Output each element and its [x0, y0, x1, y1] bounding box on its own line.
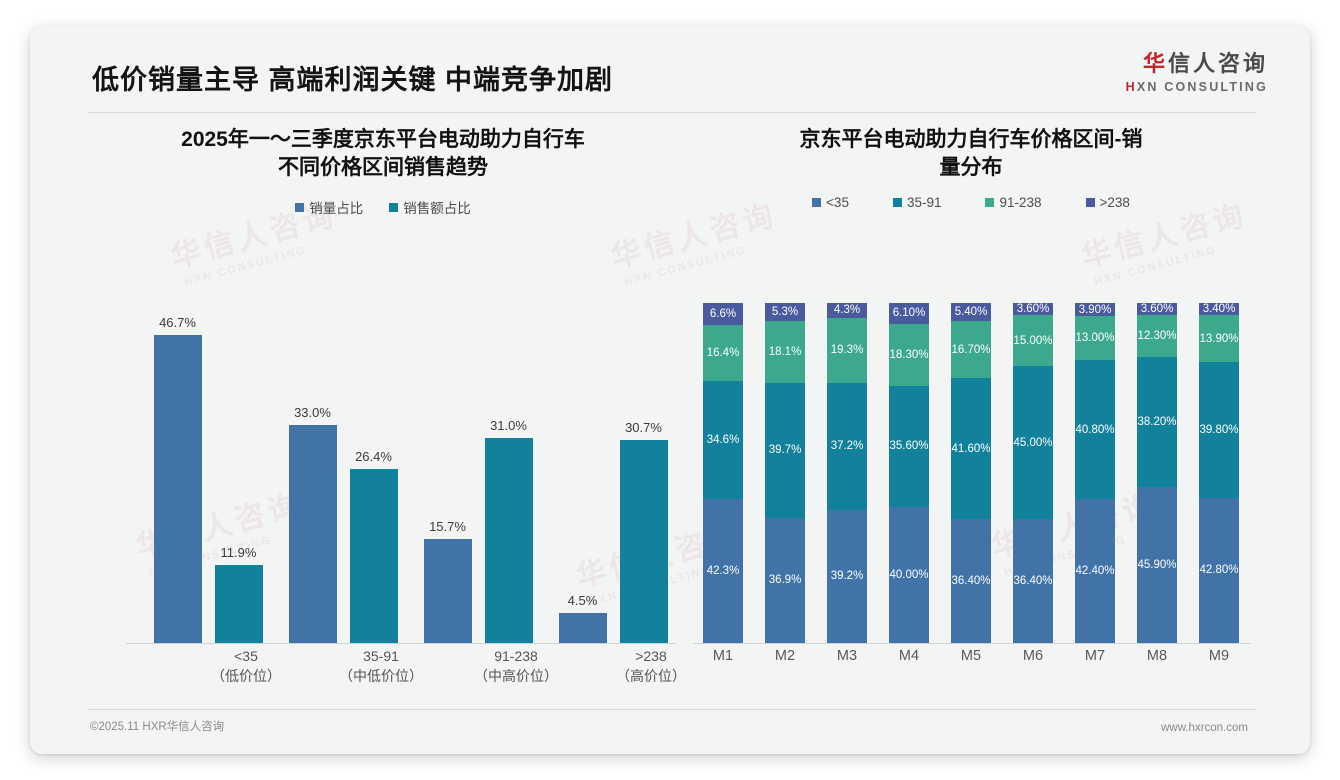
stacked-bar-m1[interactable]: 6.6% 16.4% 34.6% 42.3% — [703, 303, 743, 643]
legend-item-91-238[interactable]: 91-238 — [985, 195, 1041, 210]
left-chart-legend: 销量占比 销售额占比 — [88, 197, 678, 217]
legend-swatch-icon — [812, 198, 821, 207]
segment-91-238[interactable]: 13.90% — [1199, 315, 1239, 362]
segment-under-35[interactable]: 36.9% — [765, 518, 805, 643]
bar-sales-volume[interactable] — [289, 425, 337, 643]
segment-91-238[interactable]: 18.30% — [889, 324, 929, 386]
month-label-m9: M9 — [1189, 648, 1249, 664]
logo-cn-rest: 信人咨询 — [1168, 51, 1268, 76]
bar-value-label: 15.7% — [429, 519, 466, 534]
segment-over-238[interactable]: 6.10% — [889, 303, 929, 324]
bar-sales-amount[interactable] — [215, 565, 263, 643]
bar-sales-volume[interactable] — [559, 613, 607, 643]
category-sublabel: （中高价位） — [456, 666, 576, 686]
category-sublabel: （中低价位） — [321, 666, 441, 686]
segment-under-35[interactable]: 40.00% — [889, 507, 929, 643]
right-chart-plot: 6.6% 16.4% 34.6% 42.3% 5.3% 18.1% 39.7% … — [685, 286, 1257, 644]
stacked-bar-m9[interactable]: 3.40% 13.90% 39.80% 42.80% — [1199, 303, 1239, 643]
segment-under-35[interactable]: 42.40% — [1075, 499, 1115, 643]
logo-english: HXN CONSULTING — [1126, 80, 1268, 94]
legend-item-under-35[interactable]: <35 — [812, 195, 849, 210]
bar-value-label: 11.9% — [221, 545, 257, 560]
stacked-bar-m3[interactable]: 4.3% 19.3% 37.2% 39.2% — [827, 303, 867, 643]
segment-over-238[interactable]: 3.40% — [1199, 303, 1239, 315]
segment-over-238[interactable]: 5.40% — [951, 303, 991, 321]
month-label-m7: M7 — [1065, 648, 1125, 664]
segment-over-238[interactable]: 6.6% — [703, 303, 743, 325]
legend-item-over-238[interactable]: >238 — [1086, 195, 1130, 210]
category-name: <35 — [186, 646, 306, 666]
category-sublabel: （低价位） — [186, 666, 306, 686]
left-chart-title-line1: 2025年一～三季度京东平台电动助力自行车 — [98, 126, 668, 154]
legend-swatch-icon — [985, 198, 994, 207]
stacked-bar-m8[interactable]: 3.60% 12.30% 38.20% 45.90% — [1137, 303, 1177, 643]
legend-label: <35 — [826, 195, 849, 210]
bar-value-label: 4.5% — [568, 593, 598, 608]
right-chart-month-labels: M1 M2 M3 M4 M5 M6 M7 M8 M9 — [685, 648, 1257, 678]
category-label-mid-low: 35-91 （中低价位） — [321, 646, 441, 687]
month-label-m5: M5 — [941, 648, 1001, 664]
header: 低价销量主导 高端利润关键 中端竞争加剧 华信人咨询 HXN CONSULTIN… — [30, 26, 1310, 112]
left-chart-title: 2025年一～三季度京东平台电动助力自行车 不同价格区间销售趋势 — [88, 126, 678, 181]
bar-sales-amount[interactable] — [620, 440, 668, 643]
category-name: 35-91 — [321, 646, 441, 666]
bar-sales-volume[interactable] — [154, 335, 202, 643]
segment-91-238[interactable]: 18.1% — [765, 321, 805, 383]
right-chart-title: 京东平台电动助力自行车价格区间-销 量分布 — [685, 126, 1257, 181]
footer-website[interactable]: www.hxrcon.com — [1161, 722, 1248, 734]
bar-column[interactable]: 4.5% — [559, 313, 607, 643]
segment-under-35[interactable]: 36.40% — [1013, 519, 1053, 643]
left-chart-plot: 46.7% 11.9% 33.0% 26.4% — [88, 286, 678, 644]
legend-swatch-icon — [1086, 198, 1095, 207]
left-chart-category-labels: <35 （低价位） 35-91 （中低价位） 91-238 （中高价位） >23… — [126, 646, 676, 706]
segment-under-35[interactable]: 42.80% — [1199, 498, 1239, 643]
bar-value-label: 33.0% — [294, 405, 331, 420]
logo-en-red: H — [1126, 80, 1137, 94]
legend-label: >238 — [1100, 195, 1130, 210]
segment-under-35[interactable]: 42.3% — [703, 499, 743, 643]
legend-item-sales-amount[interactable]: 销售额占比 — [389, 197, 471, 217]
header-divider — [88, 112, 1256, 113]
logo-en-rest: XN CONSULTING — [1137, 80, 1268, 94]
segment-35-91[interactable]: 41.60% — [951, 378, 991, 519]
stacked-bar-m2[interactable]: 5.3% 18.1% 39.7% 36.9% — [765, 303, 805, 643]
month-label-m4: M4 — [879, 648, 939, 664]
x-axis-line — [693, 643, 1251, 644]
segment-91-238[interactable]: 19.3% — [827, 318, 867, 384]
logo-chinese: 华信人咨询 — [1126, 46, 1268, 78]
right-chart-title-line1: 京东平台电动助力自行车价格区间-销 — [695, 126, 1247, 154]
segment-35-91[interactable]: 39.7% — [765, 383, 805, 518]
bar-value-label: 46.7% — [159, 315, 196, 330]
right-chart-legend: <35 35-91 91-238 >238 — [685, 195, 1257, 210]
legend-label: 销量占比 — [309, 197, 363, 217]
brand-logo: 华信人咨询 HXN CONSULTING — [1126, 46, 1268, 94]
stacked-bar-m5[interactable]: 5.40% 16.70% 41.60% 36.40% — [951, 303, 991, 643]
segment-35-91[interactable]: 38.20% — [1137, 357, 1177, 487]
bar-sales-volume[interactable] — [424, 539, 472, 643]
bar-value-label: 26.4% — [355, 449, 392, 464]
legend-item-35-91[interactable]: 35-91 — [893, 195, 942, 210]
legend-swatch-icon — [295, 203, 304, 212]
left-chart-panel: 2025年一～三季度京东平台电动助力自行车 不同价格区间销售趋势 销量占比 销售… — [88, 126, 678, 711]
segment-over-238[interactable]: 3.90% — [1075, 303, 1115, 316]
legend-item-sales-volume[interactable]: 销量占比 — [295, 197, 363, 217]
segment-91-238[interactable]: 12.30% — [1137, 315, 1177, 357]
left-chart-title-line2: 不同价格区间销售趋势 — [98, 154, 668, 182]
legend-label: 销售额占比 — [403, 197, 471, 217]
segment-over-238[interactable]: 4.3% — [827, 303, 867, 318]
bar-column[interactable]: 15.7% — [424, 313, 472, 643]
segment-91-238[interactable]: 13.00% — [1075, 316, 1115, 360]
category-label-mid-high: 91-238 （中高价位） — [456, 646, 576, 687]
bar-value-label: 31.0% — [490, 418, 527, 433]
month-label-m2: M2 — [755, 648, 815, 664]
footer-divider — [88, 709, 1256, 710]
right-chart-panel: 京东平台电动助力自行车价格区间-销 量分布 <35 35-91 91-238 >… — [685, 126, 1257, 711]
segment-over-238[interactable]: 3.60% — [1013, 303, 1053, 315]
segment-35-91[interactable]: 37.2% — [827, 383, 867, 509]
segment-under-35[interactable]: 45.90% — [1137, 487, 1177, 643]
month-label-m6: M6 — [1003, 648, 1063, 664]
bar-column[interactable]: 26.4% — [350, 313, 398, 643]
legend-label: 35-91 — [907, 195, 942, 210]
segment-35-91[interactable]: 45.00% — [1013, 366, 1053, 519]
month-label-m3: M3 — [817, 648, 877, 664]
month-label-m1: M1 — [693, 648, 753, 664]
bar-column[interactable]: 30.7% — [620, 313, 668, 643]
bar-sales-amount[interactable] — [350, 469, 398, 643]
bar-column[interactable]: 33.0% — [289, 313, 337, 643]
stacked-bar-m7[interactable]: 3.90% 13.00% 40.80% 42.40% — [1075, 303, 1115, 643]
segment-91-238[interactable]: 16.70% — [951, 321, 991, 378]
segment-35-91[interactable]: 35.60% — [889, 386, 929, 507]
logo-cn-red: 华 — [1143, 51, 1168, 76]
segment-35-91[interactable]: 39.80% — [1199, 362, 1239, 497]
bar-group: 46.7% 11.9% — [148, 313, 268, 643]
right-chart-title-line2: 量分布 — [695, 154, 1247, 182]
bar-value-label: 30.7% — [625, 420, 662, 435]
legend-swatch-icon — [389, 203, 398, 212]
segment-91-238[interactable]: 15.00% — [1013, 315, 1053, 366]
month-label-m8: M8 — [1127, 648, 1187, 664]
segment-over-238[interactable]: 3.60% — [1137, 303, 1177, 315]
segment-under-35[interactable]: 36.40% — [951, 519, 991, 643]
bar-group: 33.0% 26.4% — [283, 313, 403, 643]
x-axis-line — [126, 643, 676, 644]
bar-sales-amount[interactable] — [485, 438, 533, 643]
stacked-bar-m4[interactable]: 6.10% 18.30% 35.60% 40.00% — [889, 303, 929, 643]
stacked-bar-m6[interactable]: 3.60% 15.00% 45.00% 36.40% — [1013, 303, 1053, 643]
page-title: 低价销量主导 高端利润关键 中端竞争加剧 — [92, 58, 613, 97]
legend-label: 91-238 — [999, 195, 1041, 210]
footer-copyright: ©2025.11 HXR华信人咨询 — [90, 718, 224, 734]
segment-under-35[interactable]: 39.2% — [827, 510, 867, 643]
segment-over-238[interactable]: 5.3% — [765, 303, 805, 321]
category-name: 91-238 — [456, 646, 576, 666]
legend-swatch-icon — [893, 198, 902, 207]
segment-35-91[interactable]: 40.80% — [1075, 360, 1115, 499]
slide-card: 华信人咨询 HXN CONSULTING 华信人咨询 HXN CONSULTIN… — [30, 26, 1310, 754]
bar-column[interactable]: 11.9% — [215, 313, 263, 643]
segment-35-91[interactable]: 34.6% — [703, 381, 743, 499]
bar-group: 4.5% 30.7% — [553, 313, 673, 643]
category-label-low: <35 （低价位） — [186, 646, 306, 687]
bar-column[interactable]: 46.7% — [154, 313, 202, 643]
bar-group: 15.7% 31.0% — [418, 313, 538, 643]
bar-column[interactable]: 31.0% — [485, 313, 533, 643]
segment-91-238[interactable]: 16.4% — [703, 325, 743, 381]
